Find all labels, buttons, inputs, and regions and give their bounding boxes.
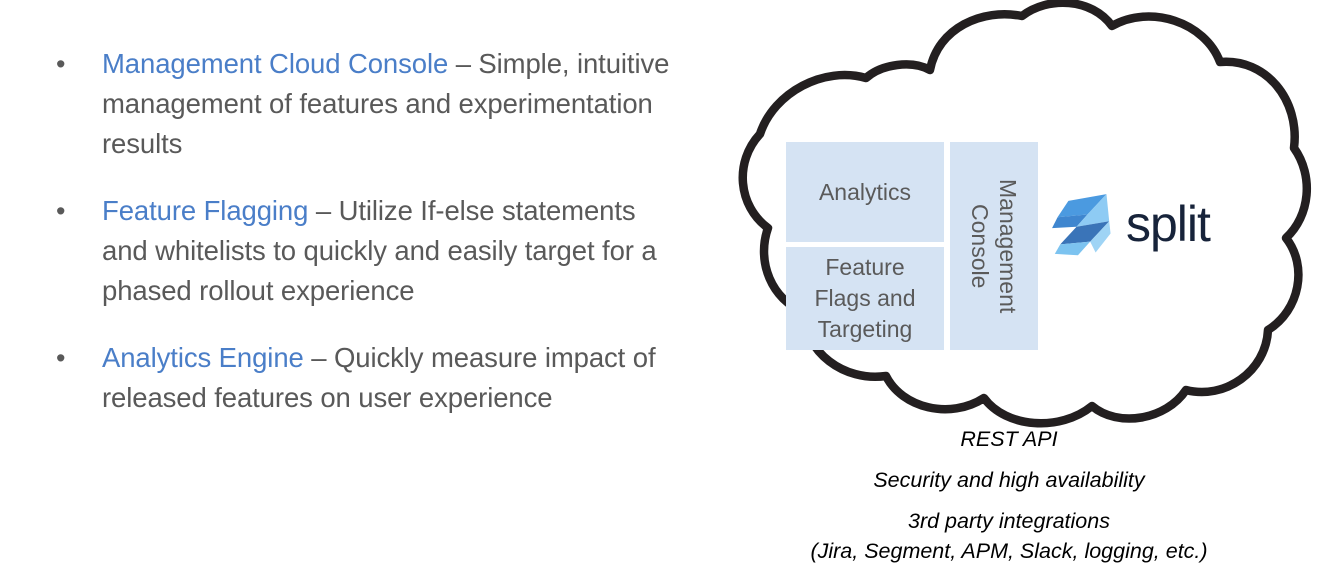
split-logo-mark-icon xyxy=(1048,190,1116,258)
split-logo: split xyxy=(1048,186,1238,262)
cloud-architecture-diagram: Analytics Feature Flags and Targeting Ma… xyxy=(700,0,1318,567)
panel-feature-flags-label: Feature Flags and Targeting xyxy=(814,252,915,345)
bullet-marker-icon: • xyxy=(38,191,102,231)
split-wordmark: split xyxy=(1126,199,1210,249)
bullet-lead-term: Management Cloud Console xyxy=(102,48,448,79)
panel-management-console-label: Management Console xyxy=(966,179,1022,313)
caption-security: Security and high availability xyxy=(700,465,1318,495)
panel-feature-flags: Feature Flags and Targeting xyxy=(786,247,944,350)
caption-rest-api: REST API xyxy=(700,424,1318,454)
bullet-lead-term: Analytics Engine xyxy=(102,342,304,373)
feature-bullet-list: • Management Cloud Console – Simple, int… xyxy=(38,44,678,418)
bullet-lead-term: Feature Flagging xyxy=(102,195,308,226)
bullet-text: Analytics Engine – Quickly measure impac… xyxy=(102,338,678,418)
bullet-text: Feature Flagging – Utilize If-else state… xyxy=(102,191,678,311)
panel-analytics: Analytics xyxy=(786,142,944,242)
panel-analytics-label: Analytics xyxy=(819,179,911,206)
list-item: • Feature Flagging – Utilize If-else sta… xyxy=(38,191,678,311)
cloud-capabilities-captions: REST API Security and high availability … xyxy=(700,424,1318,566)
list-item: • Analytics Engine – Quickly measure imp… xyxy=(38,338,678,418)
bullet-text: Management Cloud Console – Simple, intui… xyxy=(102,44,678,164)
bullet-marker-icon: • xyxy=(38,44,102,84)
caption-integrations-examples: (Jira, Segment, APM, Slack, logging, etc… xyxy=(700,536,1318,566)
panel-management-console: Management Console xyxy=(950,142,1038,350)
list-item: • Management Cloud Console – Simple, int… xyxy=(38,44,678,164)
bullet-marker-icon: • xyxy=(38,338,102,378)
caption-integrations: 3rd party integrations xyxy=(700,506,1318,536)
